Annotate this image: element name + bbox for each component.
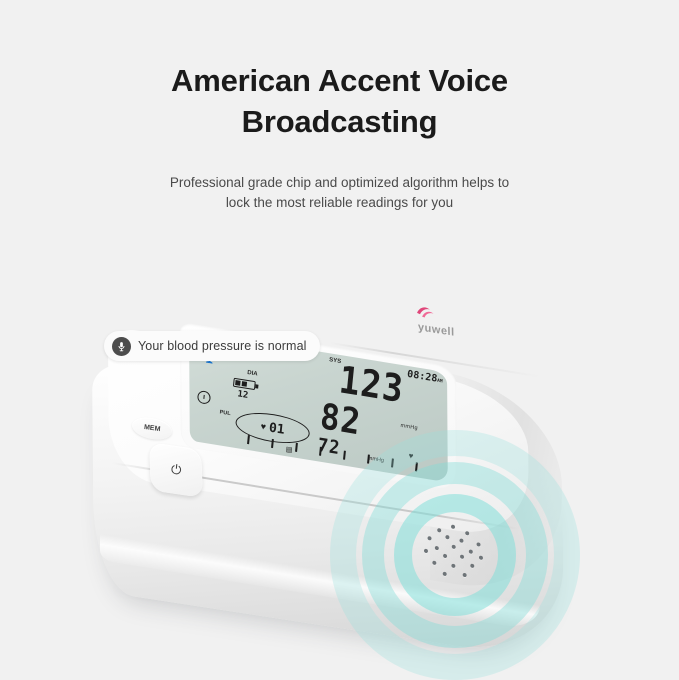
heart-icon: ♥: [260, 421, 266, 432]
product-image: Your blood pressure is normal yuwell 👤 1…: [0, 280, 679, 679]
blood-pressure-monitor: yuwell 👤 12 SYS DIA PUL 123 mmHg 82 mmHg…: [0, 280, 679, 679]
lcd-time-value: 08:28: [407, 369, 438, 385]
lcd-label-sys: SYS: [329, 357, 342, 365]
clock-icon: [197, 390, 211, 405]
page-title-line-2: Broadcasting: [0, 101, 679, 142]
lcd-label-pul: PUL: [219, 409, 231, 417]
page-subtitle-line-1: Professional grade chip and optimized al…: [0, 173, 679, 193]
page-subtitle-line-2: lock the most reliable readings for you: [0, 193, 679, 213]
page-title: American Accent Voice Broadcasting: [0, 60, 679, 142]
lcd-time: 08:28AM: [407, 370, 444, 386]
start-stop-button[interactable]: ⏻: [149, 442, 203, 498]
speaker-grille-icon: [421, 521, 489, 588]
power-icon: ⏻: [170, 461, 182, 478]
memory-icon: MEM: [143, 424, 160, 433]
page-subtitle: Professional grade chip and optimized al…: [0, 173, 679, 214]
speaker-sound-waves: [320, 430, 590, 680]
voice-callout-tooltip: Your blood pressure is normal: [104, 331, 320, 361]
microphone-icon: [112, 337, 131, 356]
battery-icon: [233, 378, 256, 390]
page-title-line-1: American Accent Voice: [0, 60, 679, 101]
lcd-label-dia: DIA: [247, 370, 258, 378]
cuff-icon: ▤: [285, 445, 292, 454]
brand-logo-icon: [415, 303, 435, 322]
lcd-memory-value: 12: [237, 389, 249, 401]
lcd-time-ampm: AM: [437, 379, 443, 385]
brand-name: yuwell: [418, 321, 455, 339]
voice-callout-text: Your blood pressure is normal: [138, 339, 307, 353]
